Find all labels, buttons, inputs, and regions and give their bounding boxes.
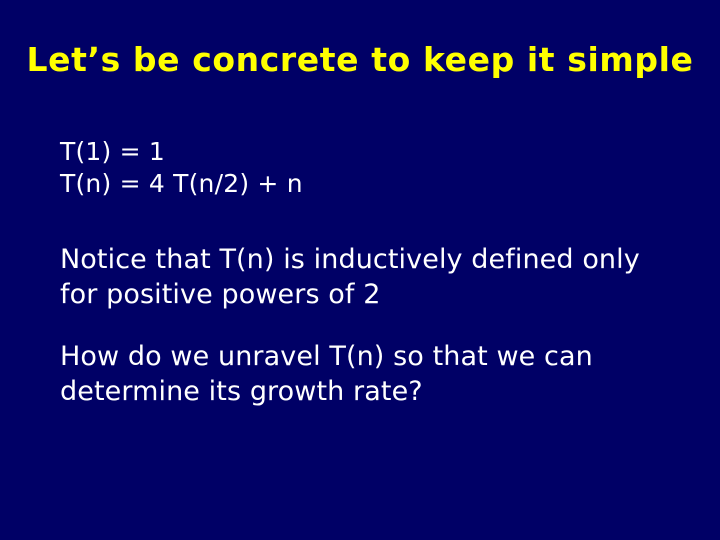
presentation-slide: Let’s be concrete to keep it simple T(1)… (0, 0, 720, 540)
slide-body: T(1) = 1 T(n) = 4 T(n/2) + n Notice that… (60, 136, 676, 409)
body-paragraph-inductive-definition: Notice that T(n) is inductively defined … (60, 242, 676, 312)
equation-line-base-case: T(1) = 1 (60, 136, 676, 168)
equation-line-recurrence: T(n) = 4 T(n/2) + n (60, 168, 676, 200)
page-title: Let’s be concrete to keep it simple (0, 40, 720, 80)
spacer-after-equations (60, 200, 676, 242)
spacer-between-paragraphs (60, 312, 676, 339)
body-paragraph-growth-rate-question: How do we unravel T(n) so that we can de… (60, 339, 676, 409)
